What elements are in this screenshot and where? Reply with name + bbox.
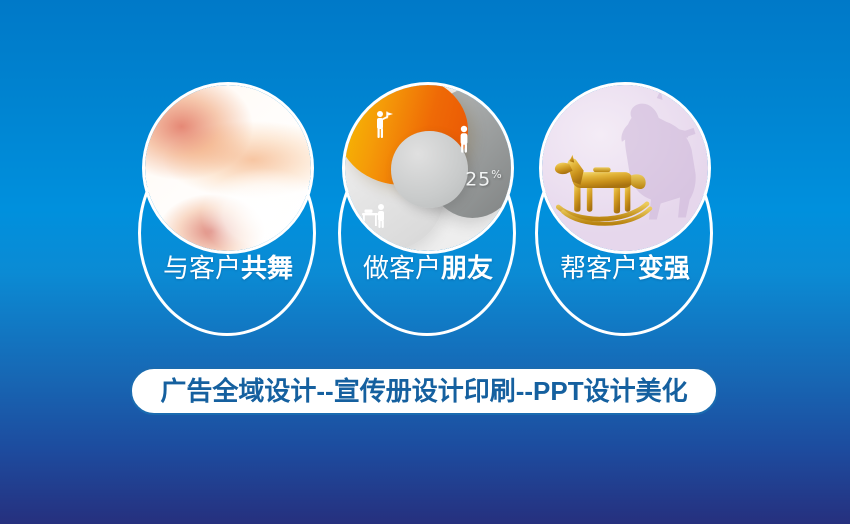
person-at-desk-icon	[360, 203, 392, 229]
card-1[interactable]: 与客户共舞	[128, 85, 328, 345]
card-2-label-bold: 朋友	[441, 253, 493, 283]
card-2-label: 做客户朋友	[328, 253, 528, 283]
person-with-flag-icon	[372, 110, 394, 140]
percent-unit: %	[491, 168, 502, 181]
card-2-image-disc: 25%	[345, 85, 511, 251]
infographic-percent-label: 25%	[465, 168, 503, 190]
card-2-label-light: 做客户	[363, 253, 441, 283]
card-3[interactable]: 帮客户变强	[525, 85, 725, 345]
card-1-label-bold: 共舞	[241, 253, 293, 283]
card-1-image-disc	[145, 85, 311, 251]
card-3-label-light: 帮客户	[560, 253, 638, 283]
card-3-label-bold: 变强	[638, 253, 690, 283]
card-1-label-light: 与客户	[163, 253, 241, 283]
percent-value: 25	[465, 168, 491, 190]
card-3-label: 帮客户变强	[525, 253, 725, 283]
orange-smoke-swirl-icon	[145, 85, 311, 251]
rocking-horse-scene-icon	[542, 85, 708, 251]
card-3-image-disc	[542, 85, 708, 251]
card-1-artwork	[145, 85, 311, 251]
card-1-label: 与客户共舞	[128, 253, 328, 283]
card-3-artwork	[542, 85, 708, 251]
golden-rocking-horse-icon	[552, 148, 655, 234]
card-2[interactable]: 25% 做客户朋友	[328, 85, 528, 345]
banner-text: 广告全域设计--宣传册设计印刷--PPT设计美化	[160, 378, 687, 404]
bottom-banner[interactable]: 广告全域设计--宣传册设计印刷--PPT设计美化	[130, 367, 718, 415]
card-2-artwork: 25%	[345, 85, 511, 251]
cards-row: 与客户共舞	[0, 0, 850, 350]
circular-infographic-icon: 25%	[345, 85, 511, 251]
promo-slide: 与客户共舞	[0, 0, 850, 524]
person-standing-icon	[455, 125, 473, 153]
